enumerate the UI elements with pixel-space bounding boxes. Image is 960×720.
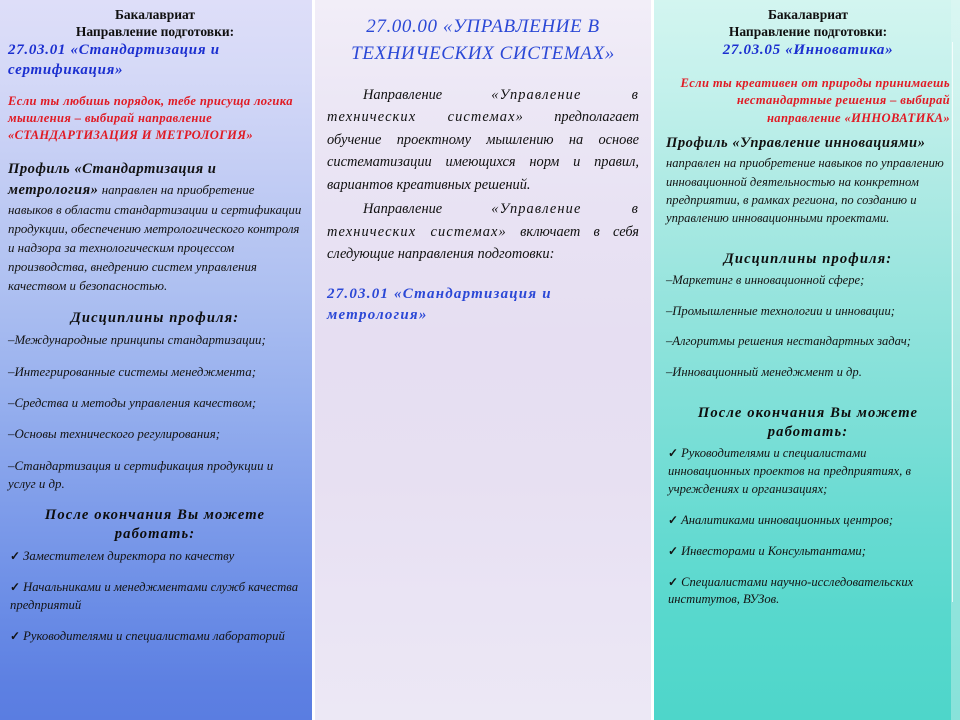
right-edge-hairline	[952, 42, 953, 602]
list-item: –Международные принципы стандартизации;	[8, 331, 302, 349]
overview-program-code: 27.03.01 «Стандартизация и метрология»	[327, 284, 639, 327]
right-profile-name: Профиль «Управление инновациями»	[666, 135, 925, 151]
list-item: –Инновационный менеджмент и др.	[666, 364, 950, 382]
slide-root: Бакалавриат Направление подготовки: 27.0…	[0, 0, 960, 720]
right-header-direction: Направление подготовки:	[666, 23, 950, 40]
check-icon: ✓	[10, 549, 23, 563]
left-profile-paragraph: Профиль «Стандартизация и метрология» на…	[8, 159, 302, 296]
list-item: ✓Начальниками и менеджментами служб каче…	[8, 578, 302, 614]
column-innovatics: Бакалавриат Направление подготовки: 27.0…	[654, 0, 960, 720]
list-item: ✓Аналитиками инновационных центров;	[666, 512, 950, 530]
overview-p2-lead: Направление	[363, 201, 491, 217]
column-overview: 27.00.00 «УПРАВЛЕНИЕ В ТЕХНИЧЕСКИХ СИСТЕ…	[315, 0, 651, 720]
list-item: ✓Заместителем директора по качеству	[8, 547, 302, 565]
right-profile-text: направлен на приобретение навыков по упр…	[666, 156, 944, 225]
list-item: –Стандартизация и сертификация продукции…	[8, 457, 302, 494]
right-careers-heading: После окончания Вы можете работать:	[666, 404, 950, 442]
check-icon: ✓	[668, 575, 681, 589]
overview-p1-lead: Направление	[363, 87, 491, 103]
left-profile-text: направлен на приобретение навыков в обла…	[8, 183, 301, 293]
overview-paragraph-1: Направление «Управление в технических си…	[327, 84, 639, 196]
left-careers-heading: После окончания Вы можете работать:	[8, 506, 302, 544]
list-item: –Интегрированные системы менеджмента;	[8, 363, 302, 381]
right-program-code: 27.03.05 «Инноватика»	[666, 41, 950, 61]
check-icon: ✓	[668, 544, 681, 558]
list-item: ✓Руководителями и специалистами лаборато…	[8, 627, 302, 645]
list-item-label: Аналитиками инновационных центров;	[681, 513, 893, 527]
list-item-label: Заместителем директора по качеству	[23, 549, 234, 563]
list-item: –Средства и методы управления качеством;	[8, 394, 302, 412]
right-header-degree: Бакалавриат	[666, 6, 950, 23]
left-callout: Если ты любишь порядок, тебе присуща лог…	[8, 93, 302, 145]
check-icon: ✓	[668, 446, 681, 460]
list-item: –Алгоритмы решения нестандартных задач;	[666, 333, 950, 351]
list-item: –Маркетинг в инновационной сфере;	[666, 272, 950, 290]
overview-paragraph-2: Направление «Управление в технических си…	[327, 198, 639, 265]
right-disciplines-heading: Дисциплины профиля:	[666, 250, 950, 269]
page-title: 27.00.00 «УПРАВЛЕНИЕ В ТЕХНИЧЕСКИХ СИСТЕ…	[327, 14, 639, 68]
check-icon: ✓	[668, 513, 681, 527]
list-item-label: Руководителями и специалистами инновацио…	[668, 446, 911, 496]
list-item-label: Руководителями и специалистами лаборатор…	[23, 629, 285, 643]
list-item-label: Инвесторами и Консультантами;	[681, 544, 866, 558]
list-item-label: Специалистами научно-исследовательских и…	[668, 575, 913, 607]
check-icon: ✓	[10, 580, 23, 594]
right-profile-paragraph: Профиль «Управление инновациями» направл…	[666, 133, 950, 228]
left-disciplines-heading: Дисциплины профиля:	[8, 309, 302, 328]
list-item: –Основы технического регулирования;	[8, 425, 302, 443]
left-header-direction: Направление подготовки:	[8, 23, 302, 40]
list-item: ✓Специалистами научно-исследовательских …	[666, 574, 950, 610]
column-standardization: Бакалавриат Направление подготовки: 27.0…	[0, 0, 312, 720]
left-header-degree: Бакалавриат	[8, 6, 302, 23]
list-item: –Промышленные технологии и инновации;	[666, 303, 950, 321]
list-item-label: Начальниками и менеджментами служб качес…	[10, 580, 298, 612]
list-item: ✓Инвесторами и Консультантами;	[666, 543, 950, 561]
list-item: ✓Руководителями и специалистами инноваци…	[666, 445, 950, 499]
check-icon: ✓	[10, 629, 23, 643]
left-program-code: 27.03.01 «Стандартизация и сертификация»	[8, 41, 302, 81]
right-callout: Если ты креативен от природы принимаешь …	[666, 75, 950, 127]
